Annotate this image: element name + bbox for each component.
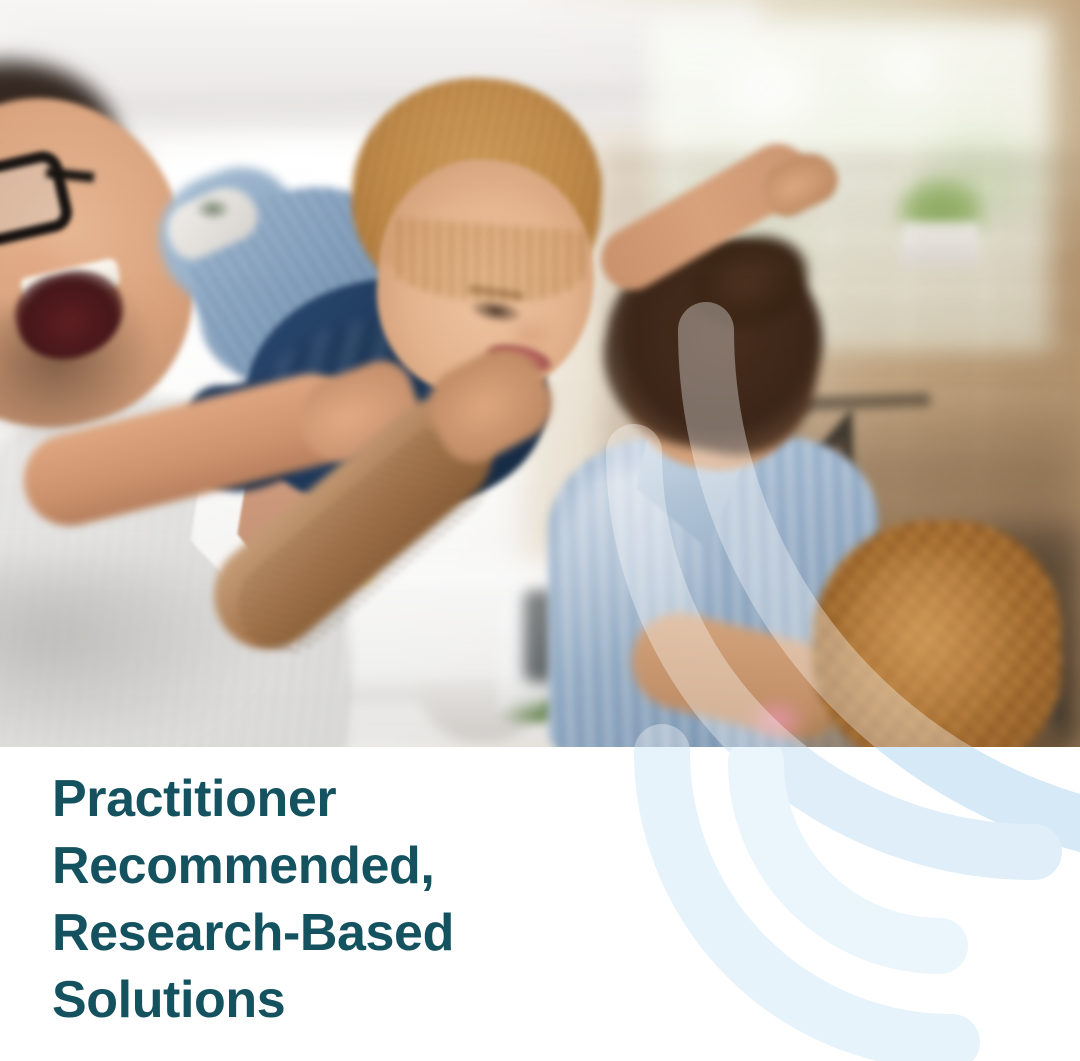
headline-panel: Practitioner Recommended, Research-Based… [0, 747, 1080, 1061]
boy-sock-toe [196, 198, 230, 220]
hero-card: Practitioner Recommended, Research-Based… [0, 0, 1080, 1061]
page-title: Practitioner Recommended, Research-Based… [52, 766, 672, 1034]
girl-hair-highlight [842, 552, 1022, 747]
hero-photograph [0, 0, 1080, 747]
pink-object [746, 696, 808, 744]
